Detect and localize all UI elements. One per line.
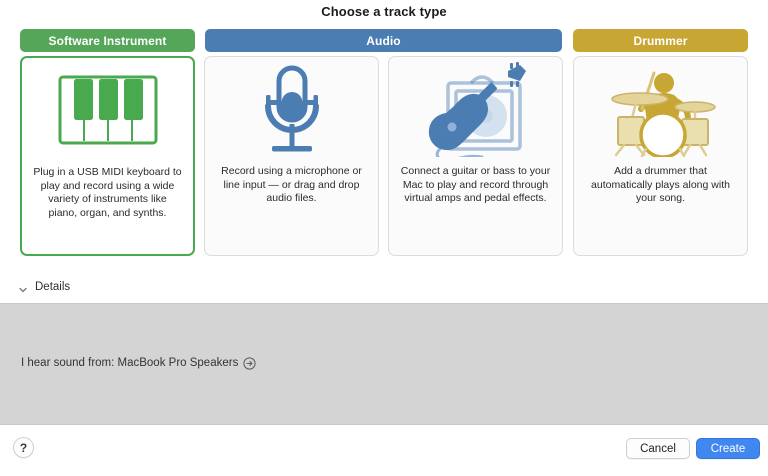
tab-drummer[interactable]: Drummer (573, 29, 748, 52)
card-artwork (388, 57, 563, 165)
arrow-right-circle-icon[interactable] (243, 357, 256, 370)
details-disclosure[interactable]: Details (18, 276, 70, 298)
sound-output-label: I hear sound from: MacBook Pro Speakers (21, 357, 238, 369)
details-label: Details (35, 281, 70, 293)
page-title: Choose a track type (0, 4, 768, 19)
details-panel: I hear sound from: MacBook Pro Speakers (0, 303, 768, 425)
card-description: Plug in a USB MIDI keyboard to play and … (22, 166, 193, 220)
guitar-amp-icon (424, 61, 528, 162)
microphone-icon (250, 62, 334, 161)
card-artwork (573, 57, 748, 165)
sound-output-row[interactable]: I hear sound from: MacBook Pro Speakers (21, 356, 256, 370)
help-button[interactable]: ? (13, 437, 34, 458)
card-drummer[interactable]: Add a drummer that automatically plays a… (573, 56, 748, 256)
card-artwork (20, 58, 195, 166)
card-description: Connect a guitar or bass to your Mac to … (389, 165, 562, 206)
chevron-down-icon[interactable] (18, 282, 28, 292)
card-software-instrument[interactable]: Plug in a USB MIDI keyboard to play and … (20, 56, 195, 256)
card-description: Record using a microphone or line input … (205, 165, 378, 206)
piano-keyboard-icon (58, 75, 158, 150)
card-artwork (204, 57, 379, 165)
dialog-footer: ? Cancel Create (0, 425, 768, 476)
card-audio-microphone[interactable]: Record using a microphone or line input … (204, 56, 379, 256)
card-guitar-amp[interactable]: Connect a guitar or bass to your Mac to … (388, 56, 563, 256)
card-description: Add a drummer that automatically plays a… (574, 165, 747, 206)
tab-audio[interactable]: Audio (205, 29, 562, 52)
track-type-tab-bar: Software Instrument Audio Drummer (20, 29, 748, 52)
track-type-card-row: Plug in a USB MIDI keyboard to play and … (20, 56, 748, 256)
cancel-button[interactable]: Cancel (626, 438, 690, 459)
create-button[interactable]: Create (696, 438, 760, 459)
tab-software-instrument[interactable]: Software Instrument (20, 29, 195, 52)
drummer-icon (602, 61, 720, 162)
